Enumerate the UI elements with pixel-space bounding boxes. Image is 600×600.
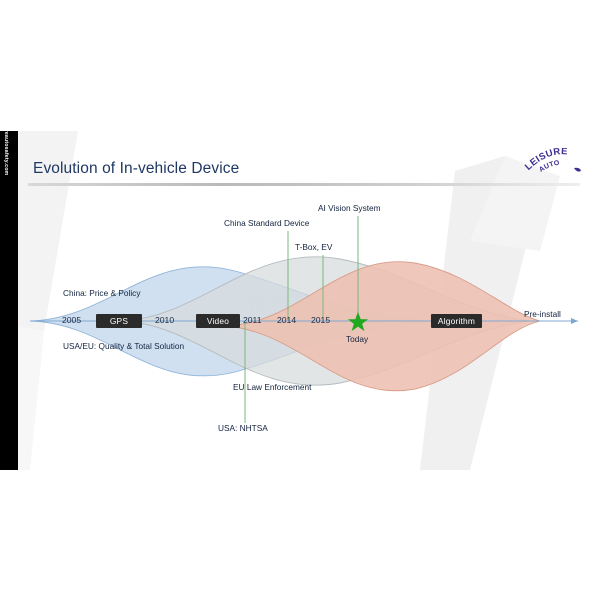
slide-screenshot: 非会员水印 www.leisureautosafety.com Evolutio… (0, 0, 600, 600)
nhtsa-callout-line (0, 131, 600, 470)
label-pre-install: Pre-install (524, 309, 561, 319)
